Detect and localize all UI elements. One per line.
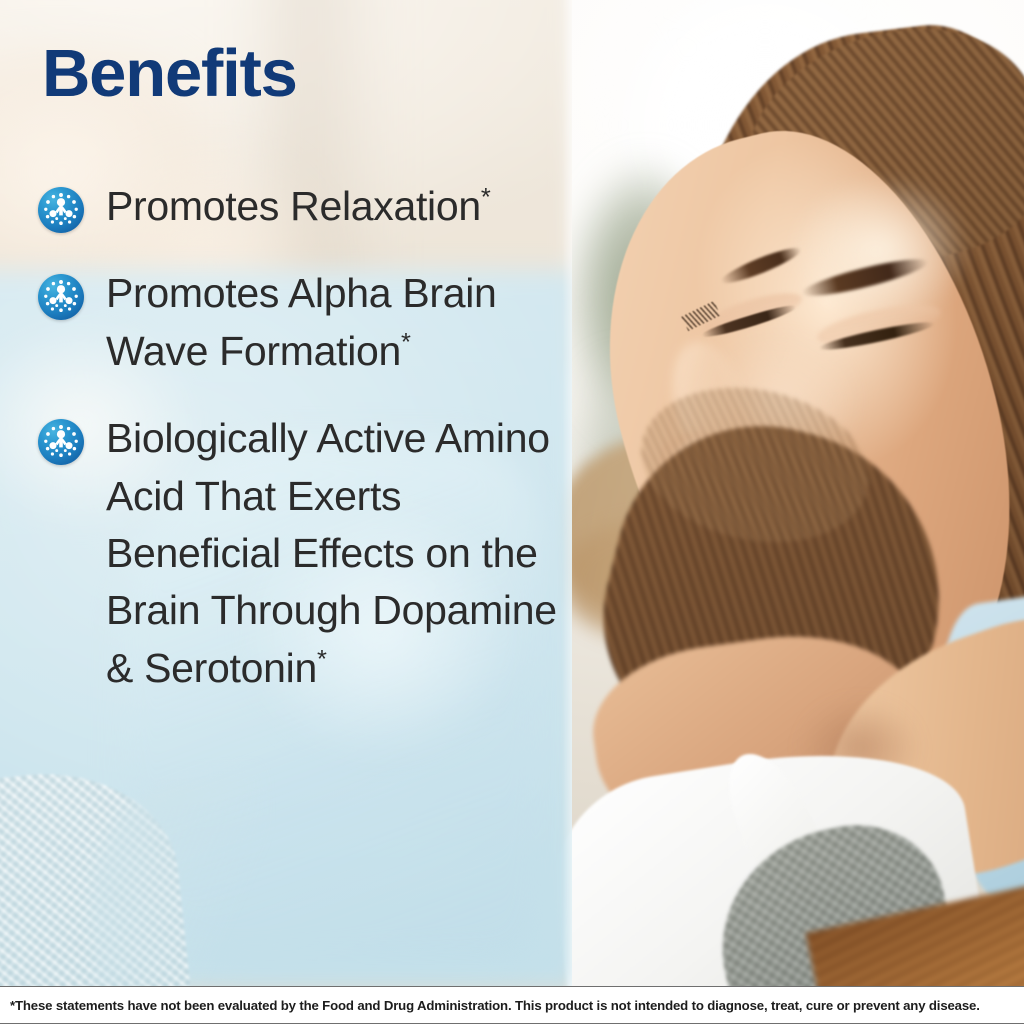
disclaimer-text: *These statements have not been evaluate… — [10, 998, 980, 1013]
benefit-item-1: Promotes Relaxation* — [38, 178, 558, 235]
molecule-network-icon — [38, 274, 84, 320]
benefit-item-2: Promotes Alpha Brain Wave Formation* — [38, 265, 558, 380]
footnote-marker: * — [317, 645, 327, 673]
footnote-marker: * — [401, 328, 411, 356]
footnote-marker: * — [481, 183, 491, 211]
molecule-network-icon — [38, 419, 84, 465]
disclaimer-bar: *These statements have not been evaluate… — [0, 986, 1024, 1024]
benefits-list: Promotes Relaxation* — [38, 178, 558, 727]
benefit-label: Promotes Relaxation — [106, 183, 481, 229]
page-title: Benefits — [42, 40, 297, 107]
panel-content: Benefits — [0, 0, 572, 986]
benefit-item-3: Biologically Active Amino Acid That Exer… — [38, 410, 558, 697]
benefit-label: Biologically Active Amino Acid That Exer… — [106, 415, 557, 691]
forehead-highlight — [790, 175, 970, 325]
benefit-label: Promotes Alpha Brain Wave Formation — [106, 270, 497, 373]
benefit-text: Biologically Active Amino Acid That Exer… — [106, 410, 558, 697]
benefit-text: Promotes Alpha Brain Wave Formation* — [106, 265, 558, 380]
benefit-text: Promotes Relaxation* — [106, 178, 490, 235]
molecule-network-icon — [38, 187, 84, 233]
benefits-infographic: Benefits — [0, 0, 1024, 1024]
